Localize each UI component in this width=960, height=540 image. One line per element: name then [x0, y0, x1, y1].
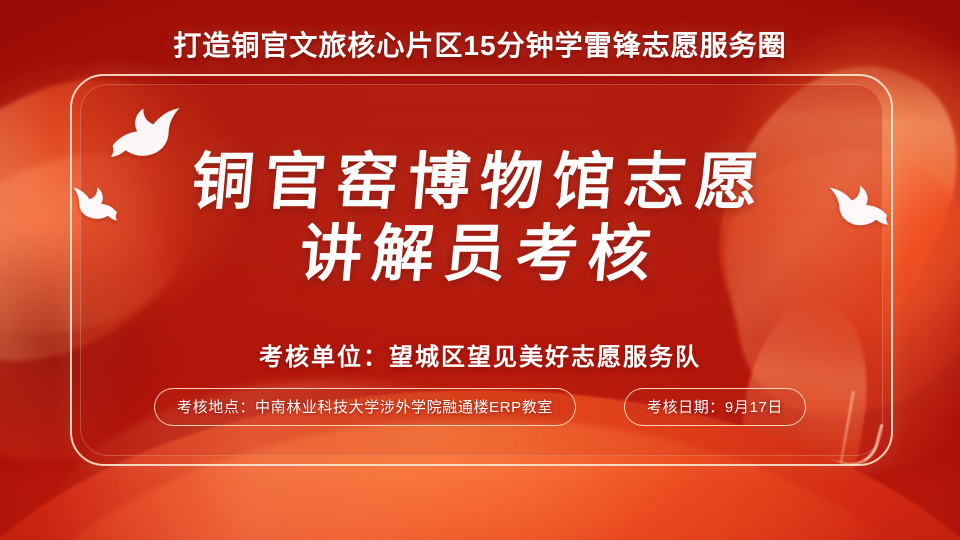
poster-canvas: 打造铜官文旅核心片区15分钟学雷锋志愿服务圈 铜官窑博物馆志愿 讲解员考核 考核…: [0, 0, 960, 540]
top-banner-text: 打造铜官文旅核心片区15分钟学雷锋志愿服务圈: [0, 24, 960, 64]
date-pill: 考核日期：9月17日: [624, 388, 806, 426]
organizer-text: 考核单位：望城区望见美好志愿服务队: [0, 337, 960, 372]
main-title: 铜官窑博物馆志愿 讲解员考核: [0, 150, 960, 288]
main-title-line-2: 讲解员考核: [0, 221, 960, 288]
venue-pill: 考核地点：中南林业科技大学涉外学院融通楼ERP教室: [154, 388, 576, 426]
main-title-line-1: 铜官窑博物馆志愿: [0, 150, 960, 213]
info-pill-row: 考核地点：中南林业科技大学涉外学院融通楼ERP教室 考核日期：9月17日: [0, 388, 960, 426]
